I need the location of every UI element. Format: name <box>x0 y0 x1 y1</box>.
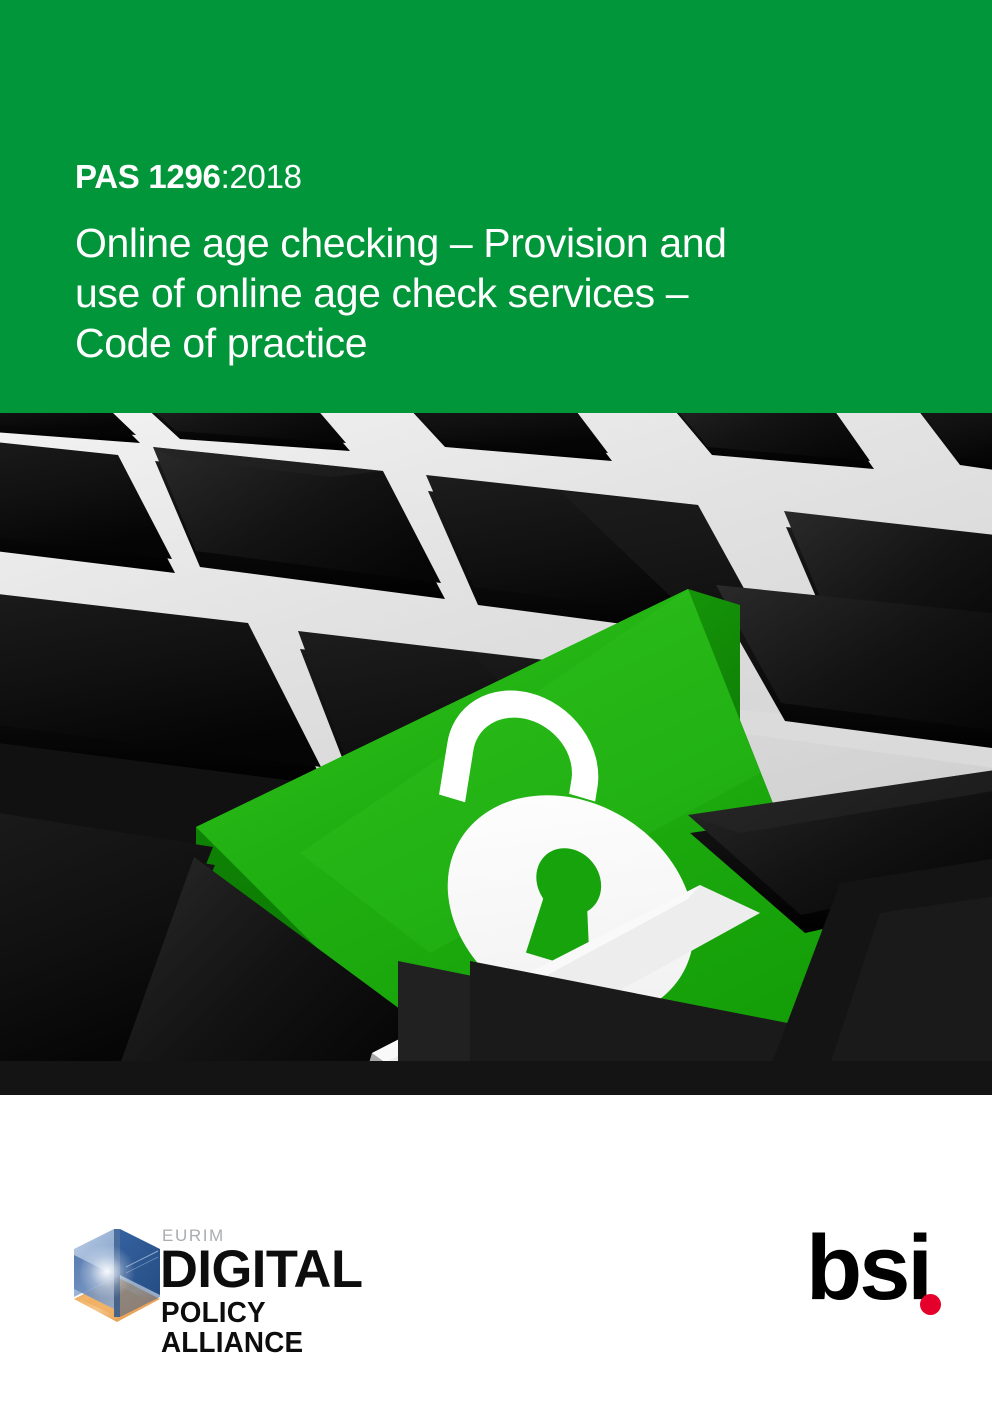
page-title-line-3: Code of practice <box>75 318 835 368</box>
dpa-digital-label: DIGITAL <box>160 1243 363 1297</box>
page-title-line-2: use of online age check services – <box>75 268 835 318</box>
document-reference: PAS 1296:2018 <box>75 158 302 196</box>
bsi-logo: bsi <box>806 1232 966 1324</box>
eurim-cube-icon <box>72 1225 162 1325</box>
cover-header-band: PAS 1296:2018 Online age checking – Prov… <box>0 0 992 413</box>
bsi-wordmark: bsi <box>806 1218 930 1318</box>
document-reference-year: :2018 <box>221 158 302 195</box>
digital-policy-alliance-logo: EURIM DIGITAL POLICY ALLIANCE <box>72 1225 392 1330</box>
dpa-wordmark: EURIM DIGITAL POLICY ALLIANCE <box>160 1225 392 1325</box>
bsi-dot-icon <box>920 1294 941 1315</box>
document-reference-number: PAS 1296 <box>75 158 221 195</box>
keyboard-illustration <box>0 413 992 1095</box>
cover-photo-keyboard <box>0 413 992 1095</box>
dpa-policy-alliance-label: POLICY ALLIANCE <box>161 1298 383 1358</box>
page-title: Online age checking – Provision and use … <box>75 218 835 368</box>
page-title-line-1: Online age checking – Provision and <box>75 218 835 268</box>
